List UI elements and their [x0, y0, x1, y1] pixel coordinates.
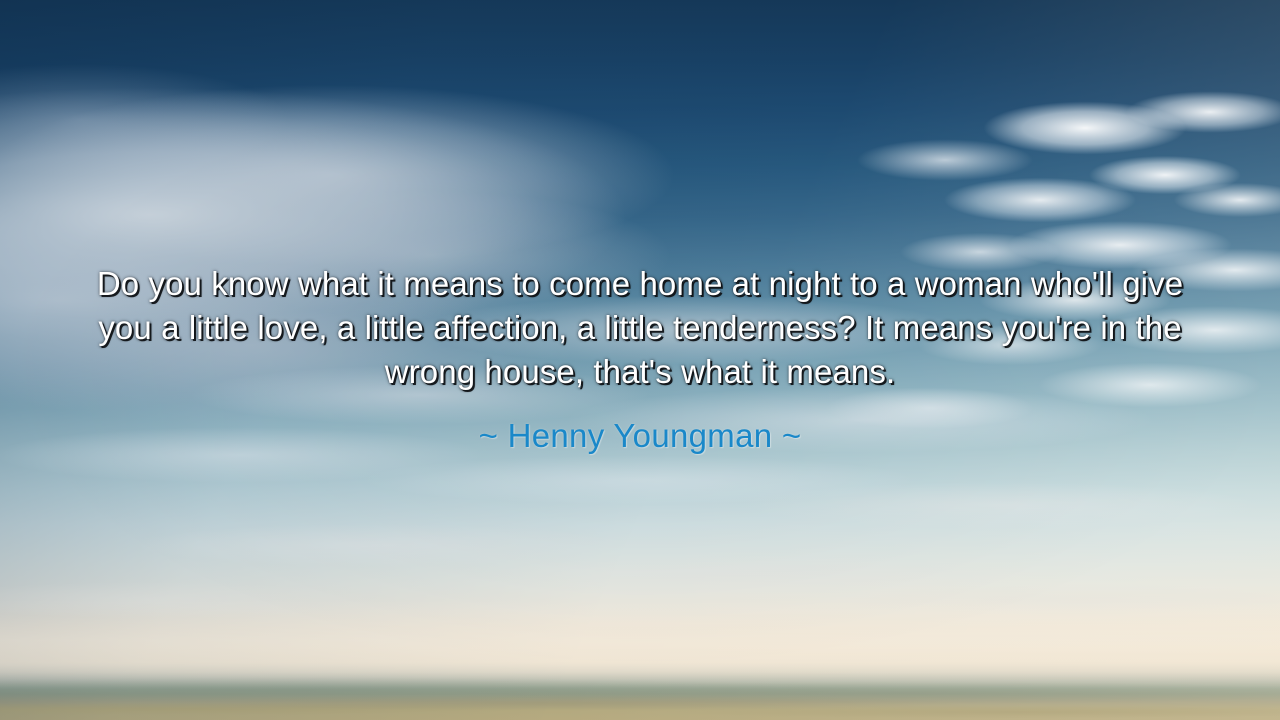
quote-attribution: ~ Henny Youngman ~	[64, 416, 1216, 456]
quote-text: Do you know what it means to come home a…	[70, 262, 1210, 394]
quote-block: Do you know what it means to come home a…	[0, 262, 1280, 456]
quote-image-canvas: Do you know what it means to come home a…	[0, 0, 1280, 720]
